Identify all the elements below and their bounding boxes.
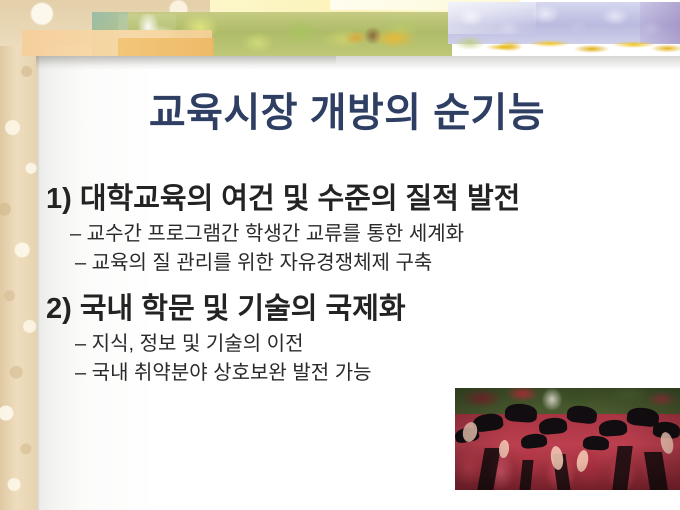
presentation-slide: 교육시장 개방의 순기능 1) 대학교육의 여건 및 수준의 질적 발전 – 교… — [0, 0, 680, 510]
bullet-level2-item-2-2: – 국내 취약분야 상호보완 발전 가능 — [37, 359, 680, 388]
graduation-photo — [455, 388, 680, 490]
bullet-level1-item-2: 2) 국내 학문 및 기술의 국제화 — [37, 288, 680, 330]
header-banner — [0, 0, 680, 62]
bullet-level2-item-2-1: – 지식, 정보 및 기술의 이전 — [37, 330, 680, 359]
photo-canvas — [455, 388, 680, 490]
banner-orange-strip — [118, 38, 214, 56]
bullet-level2-item-1-1: – 교수간 프로그램간 학생간 교류를 통한 세계화 — [37, 220, 680, 249]
banner-drop-shadow-inner — [36, 56, 336, 65]
slide-title: 교육시장 개방의 순기능 — [37, 88, 657, 138]
left-accent-strip — [0, 0, 37, 510]
bullet-level2-item-1-2: – 교육의 질 관리를 위한 자유경쟁체제 구축 — [37, 249, 680, 278]
banner-golden-motif — [320, 22, 440, 56]
bullet-level1-item-1: 1) 대학교육의 여건 및 수준의 질적 발전 — [37, 178, 680, 220]
photo-vignette — [455, 388, 680, 490]
slide-body: 1) 대학교육의 여건 및 수준의 질적 발전 – 교수간 프로그램간 학생간 … — [37, 178, 680, 388]
banner-wheat-sprays — [470, 34, 680, 58]
